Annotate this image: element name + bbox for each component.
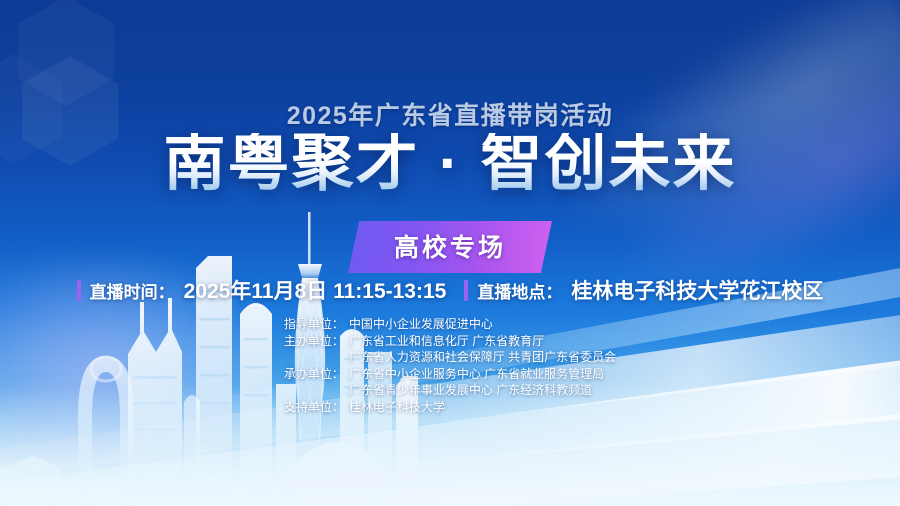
live-time-value: 2025年11月8日 11:15-13:15 (184, 275, 447, 305)
live-place-value: 桂林电子科技大学花江校区 (571, 275, 823, 305)
event-kicker: 2025年广东省直播带岗活动 (0, 96, 900, 132)
organizer-row: 支持单位：桂林电子科技大学 (284, 399, 616, 416)
organizer-value: 广东省中小企业服务中心 广东省就业服务管理局 (349, 366, 616, 383)
session-badge: 高校专场 (348, 221, 552, 273)
accent-bar-icon (464, 280, 468, 301)
organizer-row: 指导单位：中国中小企业发展促进中心 (284, 316, 616, 333)
organizer-value: 广东省工业和信息化厅 广东省教育厅 (349, 333, 616, 350)
organizer-label: 承办单位： (284, 366, 349, 383)
session-badge-container: 高校专场 (0, 221, 900, 273)
organizer-label: 指导单位： (284, 316, 349, 333)
organizer-value: 广东省人力资源和社会保障厅 共青团广东省委员会 (349, 349, 616, 366)
organizer-value: 中国中小企业发展促进中心 (349, 316, 616, 333)
organizer-row: 广东省人力资源和社会保障厅 共青团广东省委员会 (284, 349, 616, 366)
organizer-label (284, 349, 349, 366)
organizer-label: 支持单位： (284, 399, 349, 416)
organizer-row: 广东省青少年事业发展中心 广东经济科教频道 (284, 382, 616, 399)
live-place-item: 直播地点： 桂林电子科技大学花江校区 (464, 275, 823, 305)
organizer-value: 广东省青少年事业发展中心 广东经济科教频道 (349, 382, 616, 399)
poster-content: 2025年广东省直播带岗活动 南粤聚才 · 智创未来 高校专场 直播时间： 20… (0, 0, 900, 506)
organizer-label (284, 382, 349, 399)
organizer-table: 指导单位：中国中小企业发展促进中心主办单位：广东省工业和信息化厅 广东省教育厅广… (284, 316, 616, 415)
accent-bar-icon (77, 280, 81, 301)
poster-headline: 南粤聚才 · 智创未来 (0, 133, 900, 195)
live-place-label: 直播地点： (477, 278, 562, 303)
promo-poster: 2025年广东省直播带岗活动 南粤聚才 · 智创未来 高校专场 直播时间： 20… (0, 0, 900, 506)
organizer-block: 指导单位：中国中小企业发展促进中心主办单位：广东省工业和信息化厅 广东省教育厅广… (0, 316, 900, 415)
live-time-label: 直播时间： (90, 278, 175, 303)
event-info-row: 直播时间： 2025年11月8日 11:15-13:15 直播地点： 桂林电子科… (0, 275, 900, 305)
organizer-row: 承办单位：广东省中小企业服务中心 广东省就业服务管理局 (284, 366, 616, 383)
organizer-row: 主办单位：广东省工业和信息化厅 广东省教育厅 (284, 333, 616, 350)
live-time-item: 直播时间： 2025年11月8日 11:15-13:15 (77, 275, 447, 305)
organizer-label: 主办单位： (284, 333, 349, 350)
organizer-value: 桂林电子科技大学 (349, 399, 616, 416)
